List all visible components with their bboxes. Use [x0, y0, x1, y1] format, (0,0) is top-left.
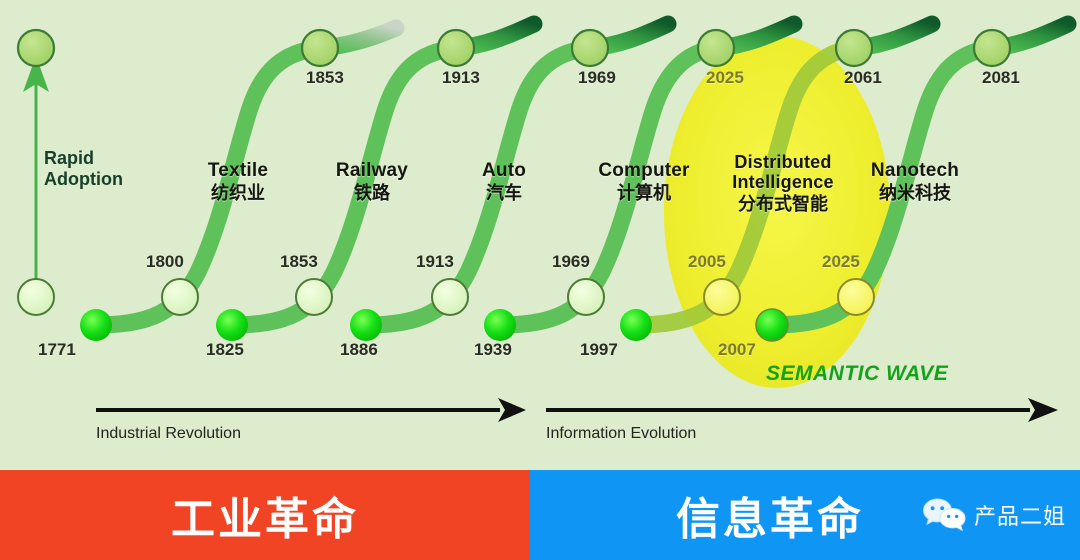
year-top-nanotech: 2081 — [982, 68, 1020, 88]
banner-left-text: 工业革命 — [171, 483, 359, 547]
wave-diagram — [0, 0, 1080, 470]
dot-start-1771 — [80, 309, 112, 341]
year-start-computer: 1997 — [580, 340, 618, 360]
year-mid-auto: 1913 — [416, 252, 454, 272]
infographic-root: Rapid Adoption Textile 纺织业 Railway 铁路 Au… — [0, 0, 1080, 560]
year-top-computer: 2025 — [706, 68, 744, 88]
dot-start-1997 — [620, 309, 652, 341]
year-top-auto: 1969 — [578, 68, 616, 88]
year-start-di: 2007 — [718, 340, 756, 360]
banner-information-revolution: 信息革命 产品二姐 — [530, 470, 1080, 560]
rapid-adoption-label: Rapid Adoption — [44, 148, 123, 190]
watermark-name: 产品二姐 — [974, 499, 1066, 531]
rapid-adoption-line1: Rapid — [44, 148, 94, 168]
wave-curve-textile — [96, 28, 396, 325]
semantic-wave-caption: SEMANTIC WAVE — [766, 362, 948, 386]
dot-start-1939 — [484, 309, 516, 341]
year-mid-nanotech: 2025 — [822, 252, 860, 272]
year-top-di: 2061 — [844, 68, 882, 88]
dot-mid-1800 — [162, 279, 198, 315]
dot-mid-2005 — [704, 279, 740, 315]
dot-top-1969 — [572, 30, 608, 66]
year-top-textile: 1853 — [306, 68, 344, 88]
timeline-canvas: Rapid Adoption Textile 纺织业 Railway 铁路 Au… — [0, 0, 1080, 470]
dot-mid-1913 — [432, 279, 468, 315]
year-mid-di: 2005 — [688, 252, 726, 272]
axis-caption-information: Information Evolution — [546, 425, 696, 443]
year-start-railway: 1886 — [340, 340, 378, 360]
dot-mid-1969 — [568, 279, 604, 315]
dot-top-2081 — [974, 30, 1010, 66]
dot-mid-1853 — [296, 279, 332, 315]
banner-industrial-revolution: 工业革命 — [0, 470, 530, 560]
year-mid-railway: 1853 — [280, 252, 318, 272]
banner-right-text: 信息革命 — [676, 483, 864, 547]
dot-top-2061 — [836, 30, 872, 66]
dot-top-1913 — [438, 30, 474, 66]
dot-mid-rapid — [18, 279, 54, 315]
year-mid-textile: 1800 — [146, 252, 184, 272]
dot-start-1886 — [350, 309, 382, 341]
banner-row: 工业革命 信息革命 产品二姐 — [0, 470, 1080, 560]
dot-start-2007 — [756, 309, 788, 341]
year-top-railway: 1913 — [442, 68, 480, 88]
axis-arrow-industrial — [96, 398, 526, 422]
dot-top-rapid — [18, 30, 54, 66]
wechat-icon — [922, 497, 968, 533]
axis-caption-industrial: Industrial Revolution — [96, 425, 241, 443]
dot-mid-2025 — [838, 279, 874, 315]
year-start-auto: 1939 — [474, 340, 512, 360]
dot-start-1825 — [216, 309, 248, 341]
axis-arrow-information — [546, 398, 1058, 422]
dot-top-1853 — [302, 30, 338, 66]
rapid-adoption-line2: Adoption — [44, 169, 123, 189]
year-start-rapid: 1771 — [38, 340, 76, 360]
year-mid-computer: 1969 — [552, 252, 590, 272]
dot-top-2025 — [698, 30, 734, 66]
watermark: 产品二姐 — [922, 497, 1066, 533]
year-start-textile: 1825 — [206, 340, 244, 360]
